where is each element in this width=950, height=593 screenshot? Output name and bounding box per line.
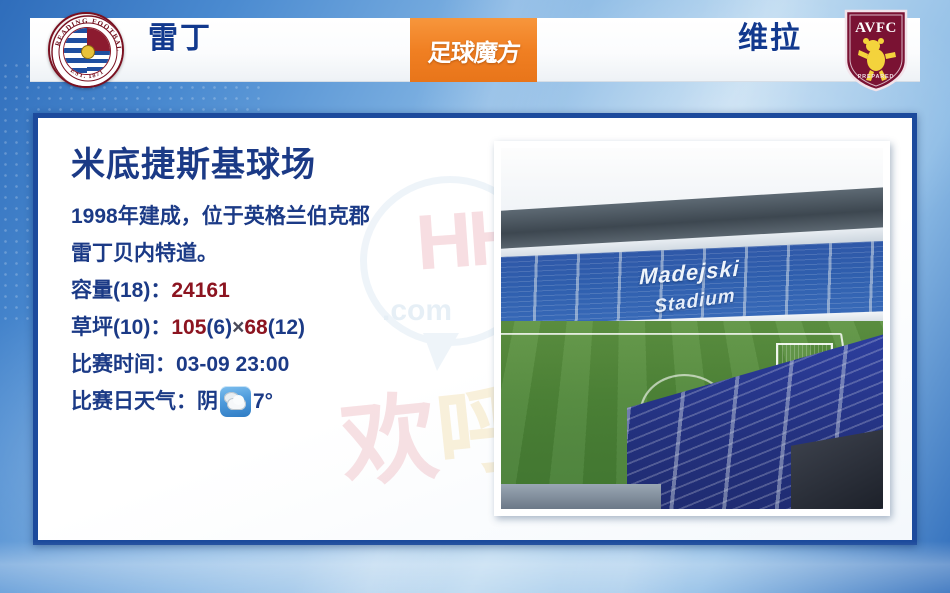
aston-villa-crest-icon: AVFC PREPARED [842, 8, 910, 92]
stadium-photo: Madejski Stadium [501, 148, 883, 509]
bottom-glow [0, 541, 950, 593]
pitch-width-rank: (12) [268, 316, 305, 339]
weather-condition: 阴 [197, 383, 218, 420]
match-header: READING FOOTBALL CLUB EST. 1871 雷丁 足球魔方 … [0, 0, 950, 100]
photo-lower-walkway [501, 484, 661, 509]
weather-row: 比赛日天气：阴 7° [71, 383, 501, 420]
stadium-photo-frame[interactable]: Madejski Stadium [494, 141, 890, 516]
content-panel: HH .com 欢呼 米底捷斯基球场 1998年建成，位于英格兰伯克郡 雷丁贝内… [38, 118, 912, 540]
capacity-row: 容量(18)：24161 [71, 272, 501, 309]
pitch-size-row: 草坪(10)：105(6)×68(12) [71, 309, 501, 346]
pitch-label: 草坪(10)： [71, 316, 171, 339]
away-team-name: 维拉 [738, 24, 802, 54]
capacity-label: 容量(18)： [71, 279, 171, 302]
svg-text:PREPARED: PREPARED [858, 74, 895, 80]
site-logo[interactable]: 足球魔方 [410, 18, 537, 82]
reading-crest-shield [63, 27, 111, 75]
match-time-value: 03-09 23:00 [176, 353, 289, 376]
stadium-description-line-1: 1998年建成，位于英格兰伯克郡 [71, 198, 501, 235]
weather-label: 比赛日天气： [71, 383, 197, 420]
site-logo-text: 足球魔方 [426, 33, 520, 68]
reading-fc-crest-icon: READING FOOTBALL CLUB EST. 1871 [48, 12, 124, 88]
pitch-size-separator: × [232, 316, 244, 339]
weather-temperature: 7° [253, 383, 273, 420]
page-root: READING FOOTBALL CLUB EST. 1871 雷丁 足球魔方 … [0, 0, 950, 593]
pitch-length-rank: (6) [206, 316, 232, 339]
match-time-row: 比赛时间：03-09 23:00 [71, 346, 501, 383]
match-time-label: 比赛时间： [71, 353, 176, 376]
svg-text:AVFC: AVFC [855, 20, 897, 36]
content-panel-frame: HH .com 欢呼 米底捷斯基球场 1998年建成，位于英格兰伯克郡 雷丁贝内… [33, 113, 917, 545]
pitch-width: 68 [244, 316, 267, 339]
home-team-name: 雷丁 [148, 24, 212, 54]
stadium-description-line-2: 雷丁贝内特道。 [71, 235, 501, 272]
capacity-value: 24161 [171, 279, 229, 302]
pitch-length: 105 [171, 316, 206, 339]
cloudy-icon [220, 386, 251, 417]
stadium-title: 米底捷斯基球场 [71, 142, 501, 188]
stadium-info-block: 米底捷斯基球场 1998年建成，位于英格兰伯克郡 雷丁贝内特道。 容量(18)：… [71, 142, 501, 420]
